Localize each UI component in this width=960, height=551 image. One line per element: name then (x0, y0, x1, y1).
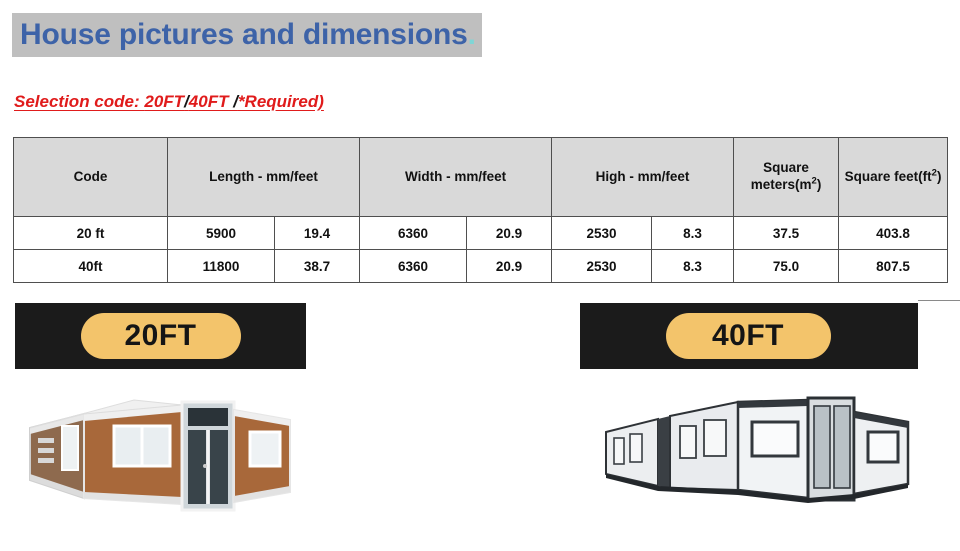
product-block-20ft: 20FT (15, 303, 306, 369)
house-door-glass-left (814, 406, 830, 488)
selection-required-note: *Required) (238, 92, 324, 111)
header-square-meters-line2: meters(m (751, 177, 812, 192)
page-title-text: House pictures and dimensions. (12, 13, 482, 57)
house-divider-column (658, 416, 670, 488)
header-square-meters-close: ) (817, 177, 822, 192)
header-length: Length - mm/feet (168, 138, 360, 217)
divider-rule (918, 300, 960, 301)
cell-square-meters: 75.0 (734, 250, 839, 283)
cell-high-feet: 8.3 (652, 250, 734, 283)
header-code: Code (14, 138, 168, 217)
house-window (250, 432, 280, 466)
banner-20ft: 20FT (15, 303, 306, 369)
table-header-row: Code Length - mm/feet Width - mm/feet Hi… (14, 138, 948, 217)
cell-length-feet: 19.4 (275, 217, 360, 250)
banner-40ft: 40FT (580, 303, 918, 369)
table-row: 40ft 11800 38.7 6360 20.9 2530 8.3 75.0 … (14, 250, 948, 283)
house-window (630, 434, 642, 462)
selection-code-line: Selection code: 20FT/40FT /*Required) (14, 92, 324, 112)
header-square-feet: Square feet(ft2) (839, 138, 948, 217)
house-image-40ft (596, 386, 926, 516)
cell-square-feet: 403.8 (839, 217, 948, 250)
house-window (614, 438, 624, 464)
cell-high-feet: 8.3 (652, 217, 734, 250)
page-title-dot: . (468, 18, 476, 51)
selection-code-label: Selection code: (14, 92, 144, 111)
cell-high-mm: 2530 (552, 250, 652, 283)
header-square-feet-text: Square feet(ft (845, 169, 932, 184)
header-high: High - mm/feet (552, 138, 734, 217)
dimensions-table: Code Length - mm/feet Width - mm/feet Hi… (13, 137, 948, 283)
house-door-glass-right (210, 430, 228, 504)
house-image-20ft (22, 380, 312, 525)
house-illustration-40ft-svg (596, 386, 926, 516)
house-window (704, 420, 726, 456)
cell-square-meters: 37.5 (734, 217, 839, 250)
cell-high-mm: 2530 (552, 217, 652, 250)
header-square-meters: Squaremeters(m2) (734, 138, 839, 217)
cell-width-feet: 20.9 (467, 250, 552, 283)
house-vent (38, 458, 54, 463)
page-title-label: House pictures and dimensions (20, 18, 468, 51)
dimensions-table-wrap: Code Length - mm/feet Width - mm/feet Hi… (13, 137, 947, 283)
selection-option-40ft: 40FT (189, 92, 229, 111)
cell-width-mm: 6360 (360, 250, 467, 283)
selection-separator-2: / (228, 92, 237, 111)
house-illustration-20ft-svg (22, 380, 312, 525)
cell-code: 20 ft (14, 217, 168, 250)
page-title: House pictures and dimensions. (12, 13, 482, 57)
cell-length-mm: 11800 (168, 250, 275, 283)
house-window (868, 432, 898, 462)
house-door-handle (203, 464, 207, 468)
cell-square-feet: 807.5 (839, 250, 948, 283)
product-block-40ft: 40FT (580, 303, 918, 369)
house-window (752, 422, 798, 456)
house-window (62, 426, 78, 470)
cell-code: 40ft (14, 250, 168, 283)
cell-width-mm: 6360 (360, 217, 467, 250)
badge-20ft: 20FT (81, 313, 241, 359)
cell-length-feet: 38.7 (275, 250, 360, 283)
header-square-meters-line1: Square (763, 160, 809, 175)
house-door-glass-right (834, 406, 850, 488)
house-transom-glass (188, 408, 228, 426)
house-window (680, 426, 696, 458)
header-square-feet-close: ) (937, 169, 942, 184)
cell-length-mm: 5900 (168, 217, 275, 250)
cell-width-feet: 20.9 (467, 217, 552, 250)
header-width: Width - mm/feet (360, 138, 552, 217)
selection-option-20ft: 20FT (144, 92, 184, 111)
house-vent (38, 438, 54, 443)
table-row: 20 ft 5900 19.4 6360 20.9 2530 8.3 37.5 … (14, 217, 948, 250)
badge-40ft: 40FT (666, 313, 831, 359)
house-vent (38, 448, 54, 453)
